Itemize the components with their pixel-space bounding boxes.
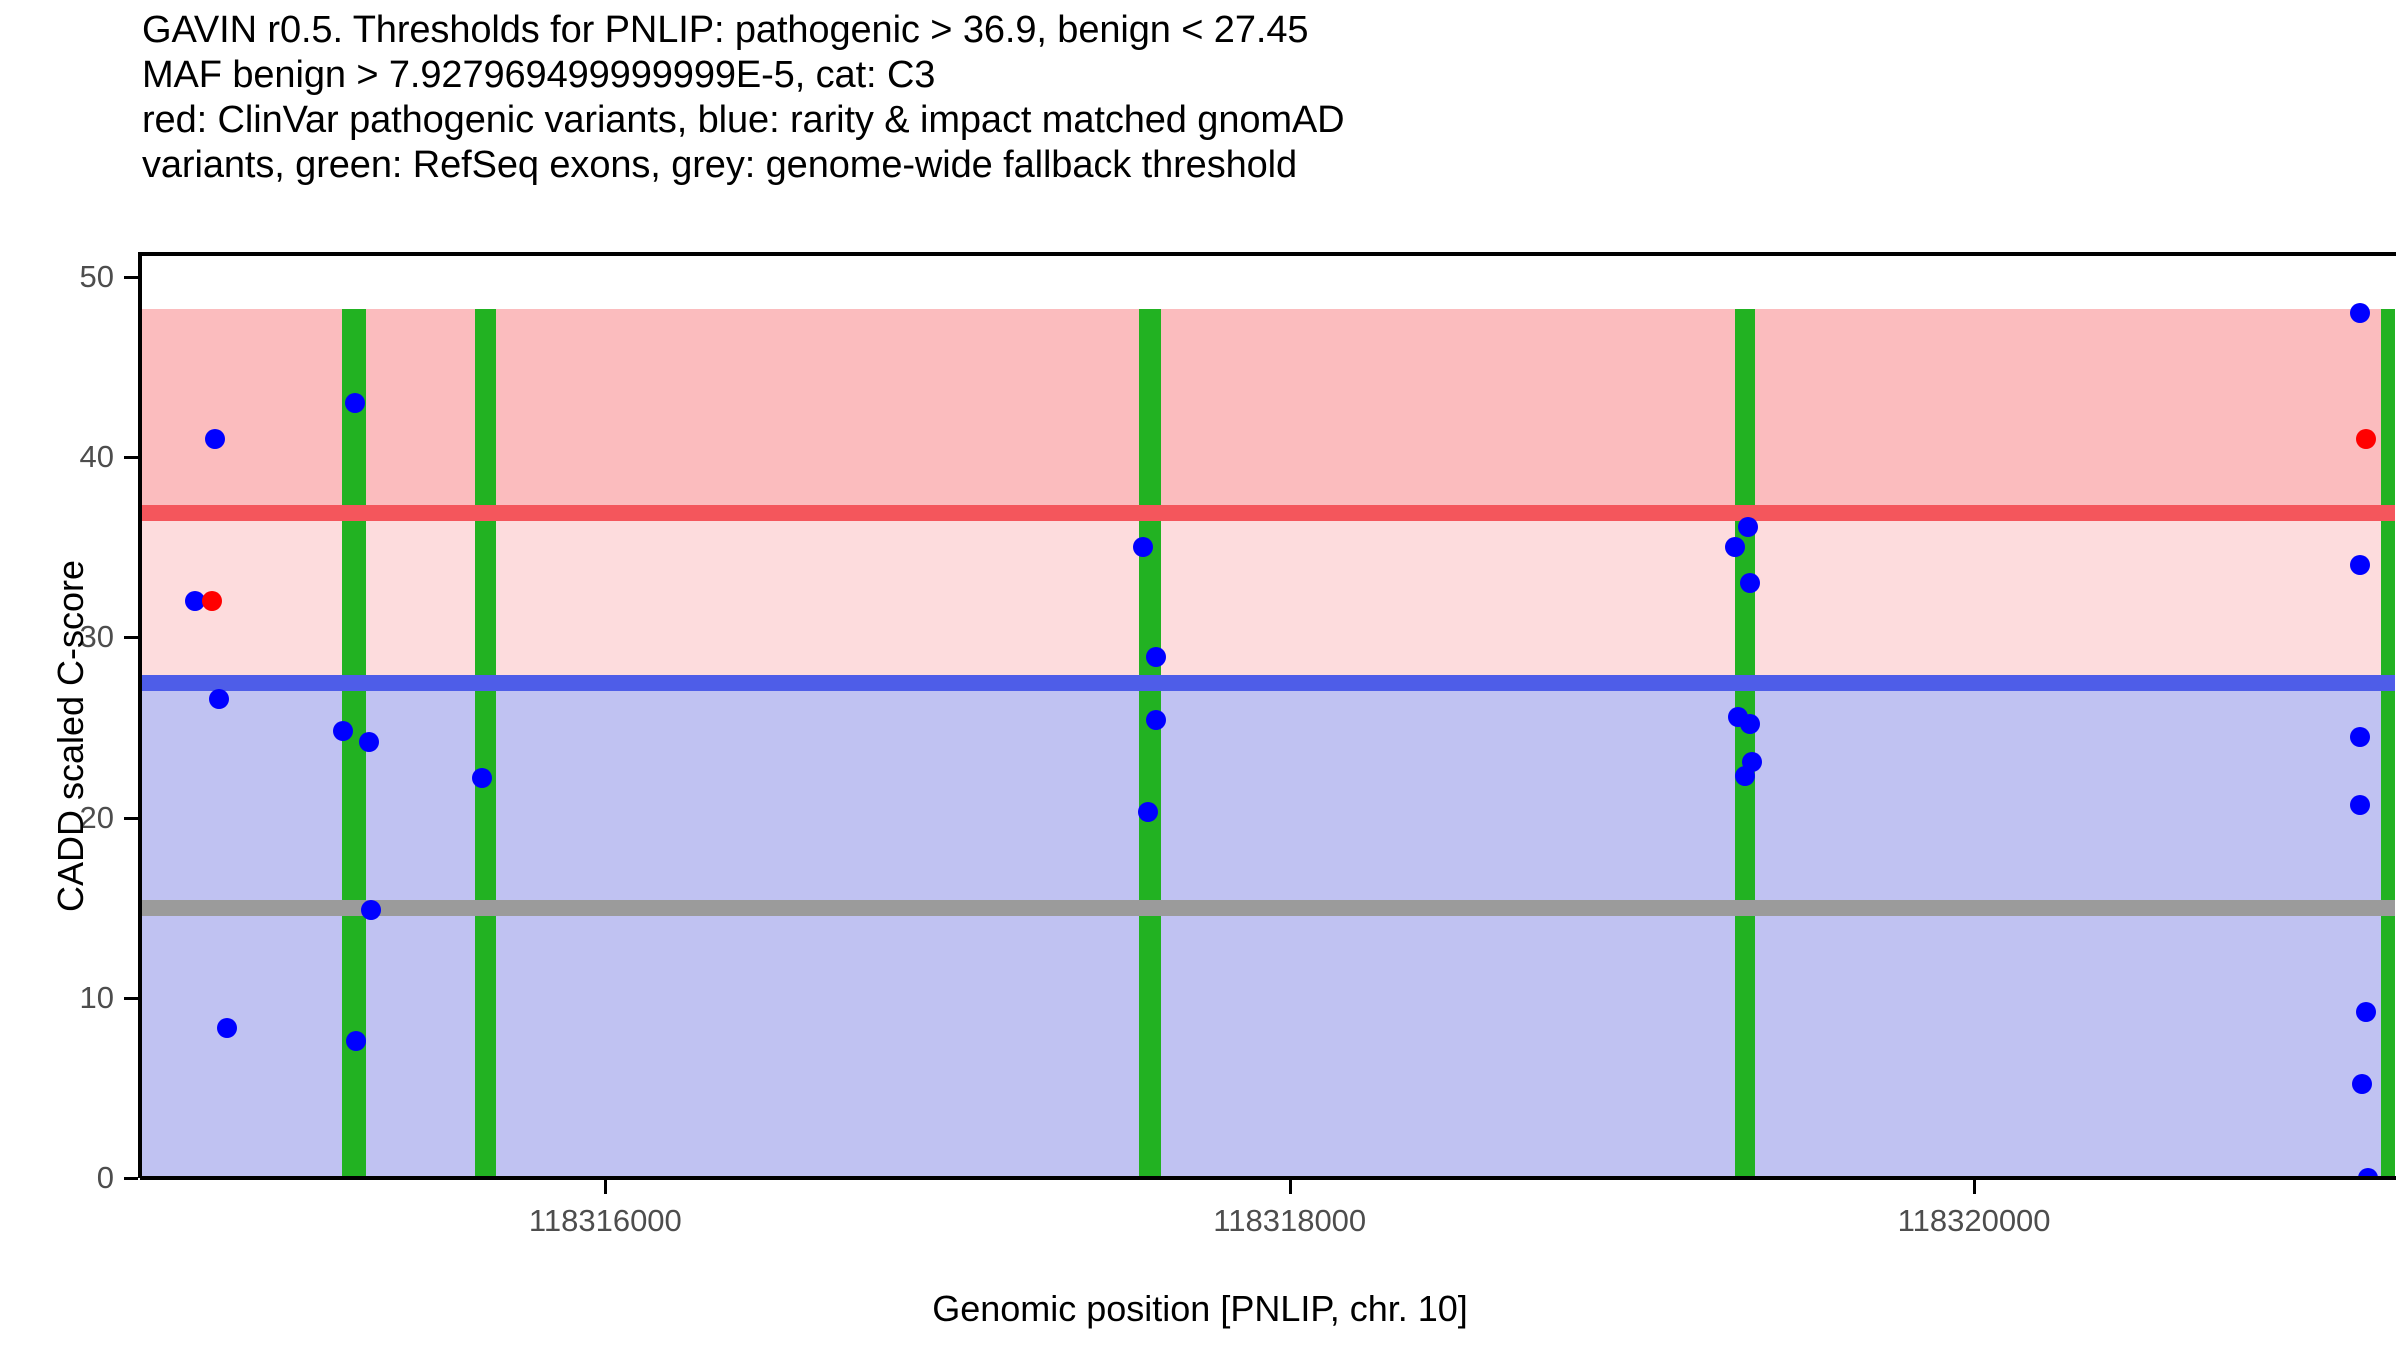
data-point bbox=[1725, 537, 1745, 557]
data-point bbox=[361, 900, 381, 920]
x-tick-mark bbox=[604, 1180, 607, 1194]
x-tick-label: 118320000 bbox=[1834, 1203, 2114, 1239]
data-point bbox=[345, 393, 365, 413]
panel-top-border bbox=[140, 252, 2396, 256]
x-axis-title: Genomic position [PNLIP, chr. 10] bbox=[0, 1288, 2400, 1330]
data-point bbox=[1146, 647, 1166, 667]
data-point bbox=[2356, 429, 2376, 449]
data-point bbox=[1735, 766, 1755, 786]
data-point bbox=[2350, 727, 2370, 747]
scatter-plot: 01020304050 118316000118318000118320000 … bbox=[0, 0, 2400, 1350]
data-point bbox=[2350, 303, 2370, 323]
y-tick-label: 0 bbox=[24, 1160, 114, 1196]
data-point bbox=[202, 591, 222, 611]
x-tick-mark bbox=[1289, 1180, 1292, 1194]
data-point bbox=[359, 732, 379, 752]
data-point bbox=[1133, 537, 1153, 557]
data-point bbox=[346, 1031, 366, 1051]
benign-threshold bbox=[140, 675, 2395, 691]
x-tick-label: 118316000 bbox=[465, 1203, 745, 1239]
x-tick-label: 118318000 bbox=[1150, 1203, 1430, 1239]
x-tick-mark bbox=[1973, 1180, 1976, 1194]
refseq-exon-4 bbox=[1735, 309, 1756, 1178]
y-axis-title: CADD scaled C-score bbox=[50, 416, 92, 1056]
y-tick-label: 50 bbox=[24, 259, 114, 295]
refseq-exon-2 bbox=[475, 309, 496, 1178]
plot-panel bbox=[140, 277, 2395, 1178]
data-point bbox=[2350, 555, 2370, 575]
x-axis-line bbox=[140, 1176, 2396, 1180]
data-point bbox=[2352, 1074, 2372, 1094]
data-point bbox=[1146, 710, 1166, 730]
data-point bbox=[472, 768, 492, 788]
data-point bbox=[1740, 573, 1760, 593]
data-point bbox=[205, 429, 225, 449]
refseq-exon-5 bbox=[2381, 309, 2395, 1178]
data-point bbox=[2356, 1002, 2376, 1022]
refseq-exon-3 bbox=[1139, 309, 1161, 1178]
data-point bbox=[1740, 714, 1760, 734]
data-point bbox=[333, 721, 353, 741]
y-tick-mark bbox=[124, 456, 138, 459]
y-tick-mark bbox=[124, 817, 138, 820]
data-point bbox=[217, 1018, 237, 1038]
data-point bbox=[1738, 517, 1758, 537]
genome-wide-fallback-threshold bbox=[140, 900, 2395, 916]
data-point bbox=[1138, 802, 1158, 822]
data-point bbox=[209, 689, 229, 709]
y-tick-mark bbox=[124, 997, 138, 1000]
y-tick-mark bbox=[124, 636, 138, 639]
y-tick-mark bbox=[124, 1177, 138, 1180]
y-tick-mark bbox=[124, 276, 138, 279]
data-point bbox=[2350, 795, 2370, 815]
pathogenic-threshold bbox=[140, 505, 2395, 521]
y-axis-line bbox=[138, 252, 142, 1178]
